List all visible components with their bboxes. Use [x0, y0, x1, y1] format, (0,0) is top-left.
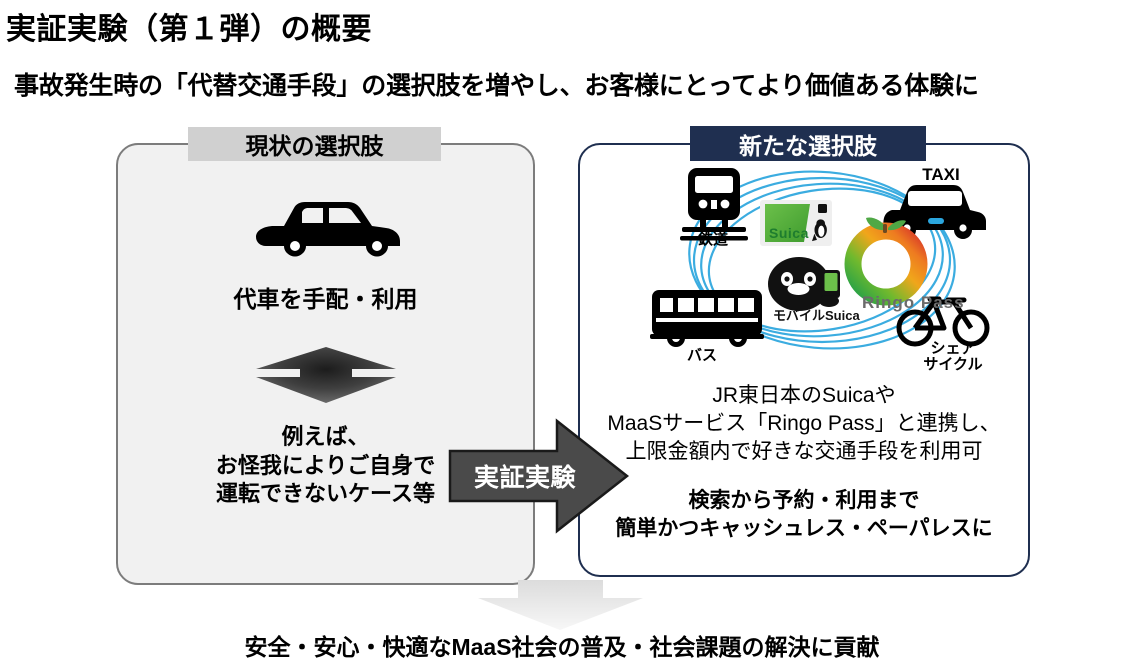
- description-line-3: 上限金額内で好きな交通手段を利用可: [578, 438, 1030, 466]
- page-title: 実証実験（第１弾）の概要: [6, 4, 372, 48]
- down-arrow-icon: [478, 580, 643, 630]
- description-line-1: JR東日本のSuicaや: [578, 382, 1030, 410]
- transport-label-bus: バス: [672, 348, 732, 364]
- new-options-highlight: 検索から予約・利用まで 簡単かつキャッシュレス・ペーパレスに: [578, 487, 1030, 543]
- mobile-suica-logo-text: モバイルSuica: [773, 308, 860, 323]
- new-options-header-label: 新たな選択肢: [739, 127, 877, 161]
- new-options-description: JR東日本のSuicaや MaaSサービス「Ringo Pass」と連携し、 上…: [578, 382, 1030, 466]
- transport-label-bicycle-line1: シェア: [910, 341, 996, 357]
- transport-label-bicycle-line2: サイクル: [910, 357, 996, 373]
- experiment-arrow-label: 実証実験: [461, 458, 589, 494]
- transport-label-taxi: TAXI: [909, 166, 973, 184]
- ringo-pass-logo-text: Ringo Pass: [862, 293, 965, 312]
- svg-text:Suica: Suica: [769, 225, 809, 241]
- highlight-line-2: 簡単かつキャッシュレス・ペーパレスに: [578, 515, 1030, 543]
- page-subtitle: 事故発生時の「代替交通手段」の選択肢を増やし、お客様にとってより価値ある体験に: [14, 66, 979, 102]
- bottom-caption: 安全・安心・快適なMaaS社会の普及・社会課題の解決に貢献: [0, 628, 1124, 662]
- new-options-header-chip: 新たな選択肢: [690, 126, 926, 161]
- down-chevron-icon: [256, 347, 396, 403]
- description-line-2: MaaSサービス「Ringo Pass」と連携し、: [578, 410, 1030, 438]
- current-options-header-chip: 現状の選択肢: [188, 127, 441, 161]
- highlight-line-1: 検索から予約・利用まで: [578, 487, 1030, 515]
- car-icon: [236, 196, 416, 258]
- current-options-header-label: 現状の選択肢: [246, 127, 384, 161]
- transport-label-train: 鉄道: [683, 232, 743, 248]
- current-option-car-label: 代車を手配・利用: [116, 280, 535, 314]
